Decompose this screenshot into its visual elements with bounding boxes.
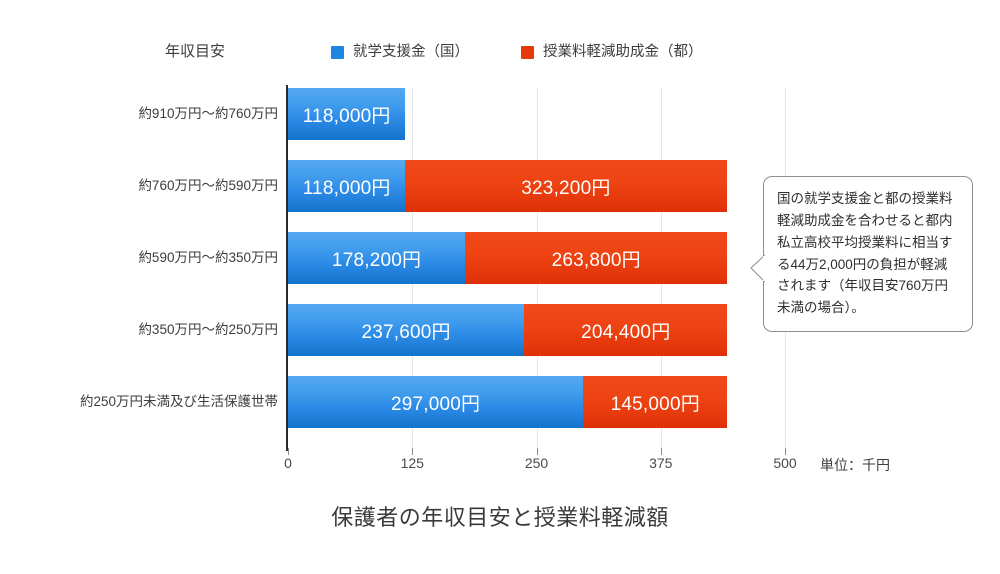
legend-swatch-icon-1 — [521, 46, 534, 59]
bar-segment-metropolitan[interactable]: 145,000円 — [583, 376, 727, 428]
bar-value-label: 118,000円 — [303, 173, 391, 200]
bar-segment-metropolitan[interactable]: 263,800円 — [465, 232, 727, 284]
x-axis-tick — [412, 448, 413, 455]
callout-text: 国の就学支援金と都の授業料軽減助成金を合わせると都内私立高校平均授業料に相当する… — [777, 191, 953, 315]
chart-title: 保護者の年収目安と授業料軽減額 — [0, 500, 1000, 532]
x-axis-tick-label: 375 — [649, 455, 672, 471]
category-label-4: 約250万円未満及び生活保護世帯 — [80, 376, 278, 428]
callout-annotation: 国の就学支援金と都の授業料軽減助成金を合わせると都内私立高校平均授業料に相当する… — [763, 176, 973, 332]
bar-segment-national[interactable]: 118,000円 — [288, 88, 405, 140]
x-axis-tick — [288, 448, 289, 455]
category-label-3: 約350万円～約250万円 — [138, 304, 278, 356]
x-axis-tick-label: 500 — [773, 455, 796, 471]
x-axis-tick — [537, 448, 538, 455]
bar-row[interactable]: 297,000円145,000円 — [288, 376, 727, 428]
chart-legend: 年収目安 就学支援金（国） 授業料軽減助成金（都） — [0, 40, 1000, 64]
bar-segment-national[interactable]: 297,000円 — [288, 376, 583, 428]
x-axis-unit-label: 単位：千円 — [820, 455, 890, 475]
x-axis-tick-label: 125 — [401, 455, 424, 471]
bar-value-label: 237,600円 — [361, 317, 450, 344]
legend-label-0: 就学支援金（国） — [353, 40, 469, 64]
bar-value-label: 178,200円 — [332, 245, 421, 272]
category-label-2: 約590万円～約350万円 — [138, 232, 278, 284]
category-label-0: 約910万円～約760万円 — [138, 88, 278, 140]
bar-value-label: 204,400円 — [581, 317, 670, 344]
y-axis-title: 年収目安 — [165, 40, 225, 64]
bar-segment-national[interactable]: 178,200円 — [288, 232, 465, 284]
legend-item-1[interactable]: 授業料軽減助成金（都） — [521, 40, 703, 64]
x-axis-tick-label: 250 — [525, 455, 548, 471]
legend-label-1: 授業料軽減助成金（都） — [543, 40, 703, 64]
bar-value-label: 263,800円 — [552, 245, 641, 272]
x-axis-tick — [785, 448, 786, 455]
bar-segment-metropolitan[interactable]: 204,400円 — [524, 304, 727, 356]
bar-row[interactable]: 178,200円263,800円 — [288, 232, 727, 284]
bar-value-label: 297,000円 — [391, 389, 480, 416]
bar-row[interactable]: 118,000円323,200円 — [288, 160, 727, 212]
legend-item-0[interactable]: 就学支援金（国） — [331, 40, 469, 64]
legend-swatch-icon-0 — [331, 46, 344, 59]
bar-segment-national[interactable]: 237,600円 — [288, 304, 524, 356]
plot-area: 118,000円118,000円323,200円178,200円263,800円… — [288, 88, 785, 448]
x-axis-tick — [661, 448, 662, 455]
bar-segment-metropolitan[interactable]: 323,200円 — [405, 160, 726, 212]
bar-value-label: 118,000円 — [303, 101, 391, 128]
chart-container: 年収目安 就学支援金（国） 授業料軽減助成金（都） 約910万円～約760万円 … — [0, 0, 1000, 574]
bar-value-label: 323,200円 — [521, 173, 610, 200]
bar-segment-national[interactable]: 118,000円 — [288, 160, 405, 212]
x-axis-tick-label: 0 — [284, 455, 292, 471]
category-label-1: 約760万円～約590万円 — [138, 160, 278, 212]
bar-value-label: 145,000円 — [611, 389, 700, 416]
bar-row[interactable]: 237,600円204,400円 — [288, 304, 727, 356]
callout-pointer-icon — [750, 255, 765, 283]
bar-row[interactable]: 118,000円 — [288, 88, 405, 140]
